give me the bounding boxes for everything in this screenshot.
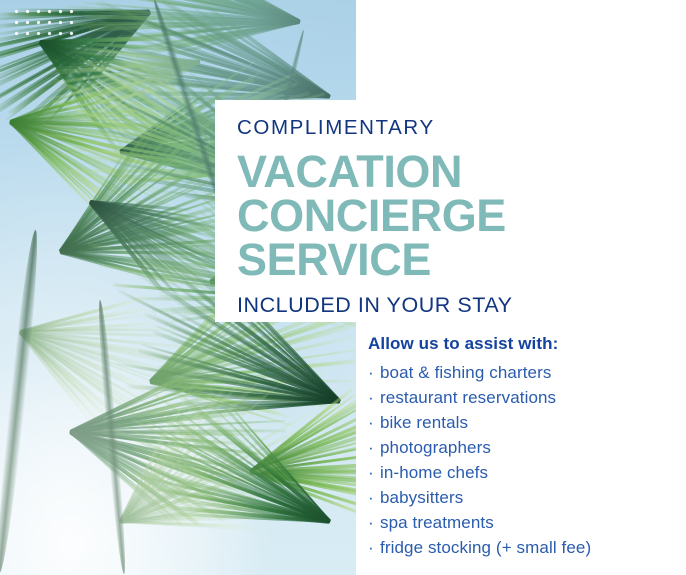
service-item: ·spa treatments <box>368 510 678 535</box>
service-item: ·fridge stocking (+ small fee) <box>368 535 678 560</box>
service-item-label: boat & fishing charters <box>380 360 551 385</box>
service-item: ·bike rentals <box>368 410 678 435</box>
service-item-label: babysitters <box>380 485 463 510</box>
subline-text: INCLUDED IN YOUR STAY <box>237 295 575 317</box>
service-item: ·restaurant reservations <box>368 385 678 410</box>
service-item: ·babysitters <box>368 485 678 510</box>
service-item-label: bike rentals <box>380 410 468 435</box>
headline-line-3: SERVICE <box>237 238 575 282</box>
bullet-icon: · <box>368 535 380 560</box>
service-item-label: in-home chefs <box>380 460 488 485</box>
dot-grid-icon <box>11 6 77 42</box>
service-item: ·boat & fishing charters <box>368 360 678 385</box>
bullet-icon: · <box>368 385 380 410</box>
service-item-label: photographers <box>380 435 491 460</box>
bullet-icon: · <box>368 435 380 460</box>
bullet-icon: · <box>368 485 380 510</box>
headline: VACATION CONCIERGE SERVICE <box>237 150 575 283</box>
services-title: Allow us to assist with: <box>368 334 678 354</box>
service-item: ·in-home chefs <box>368 460 678 485</box>
service-item: ·photographers <box>368 435 678 460</box>
bullet-icon: · <box>368 510 380 535</box>
bullet-icon: · <box>368 360 380 385</box>
vacation-concierge-poster: COMPLIMENTARY VACATION CONCIERGE SERVICE… <box>0 0 686 575</box>
service-item-label: spa treatments <box>380 510 494 535</box>
headline-line-2: CONCIERGE <box>237 194 575 238</box>
service-item-label: fridge stocking (+ small fee) <box>380 535 591 560</box>
services-list: ·boat & fishing charters·restaurant rese… <box>368 360 678 560</box>
headline-line-1: VACATION <box>237 150 575 194</box>
headline-card: COMPLIMENTARY VACATION CONCIERGE SERVICE… <box>215 100 575 322</box>
service-item-label: restaurant reservations <box>380 385 556 410</box>
services-panel: Allow us to assist with: ·boat & fishing… <box>368 334 678 560</box>
bullet-icon: · <box>368 410 380 435</box>
eyebrow-text: COMPLIMENTARY <box>237 118 575 139</box>
bullet-icon: · <box>368 460 380 485</box>
